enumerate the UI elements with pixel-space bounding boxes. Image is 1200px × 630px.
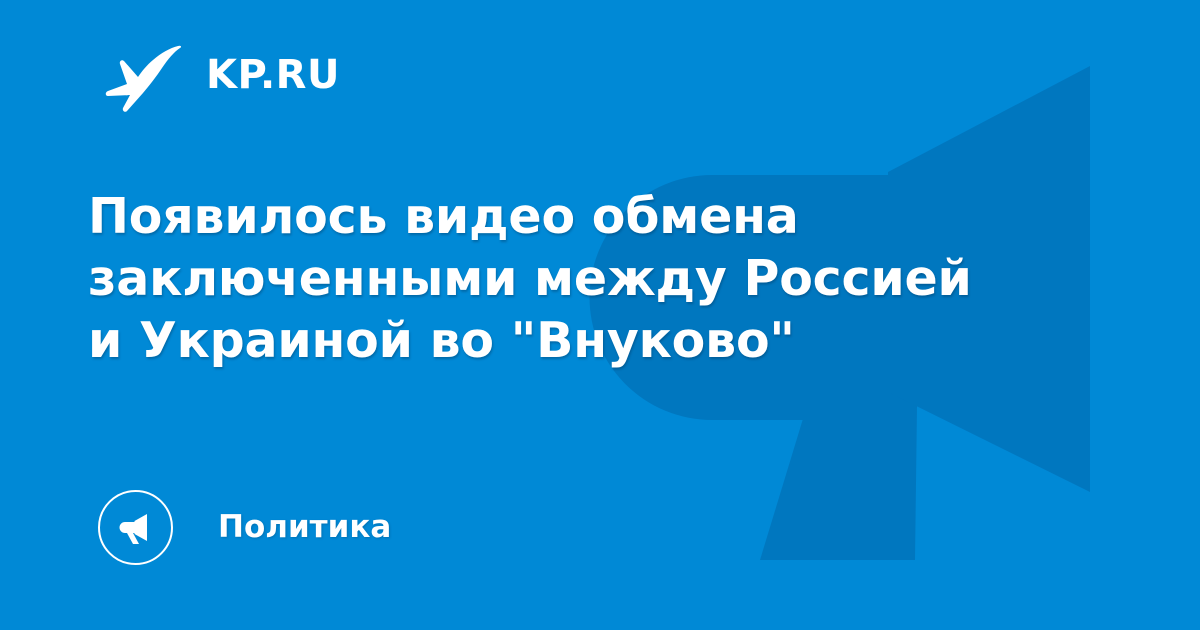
megaphone-icon — [116, 507, 156, 547]
share-card: KP.RU Появилось видео обмена заключенным… — [0, 0, 1200, 630]
headline-line: и Украиной во "Внуково" — [88, 310, 1048, 372]
brand-name: KP.RU — [206, 55, 340, 95]
category-label: Политика — [218, 512, 391, 543]
category-icon-badge — [98, 490, 173, 565]
brand-logo[interactable]: KP.RU — [104, 33, 340, 117]
headline-line: заключенными между Россией — [88, 248, 1048, 310]
headline-line: Появилось видео обмена — [88, 186, 1048, 248]
page-title: Появилось видео обмена заключенными межд… — [88, 186, 1048, 372]
swallow-bird-icon — [104, 35, 184, 115]
category-tag[interactable]: Политика — [98, 489, 391, 565]
